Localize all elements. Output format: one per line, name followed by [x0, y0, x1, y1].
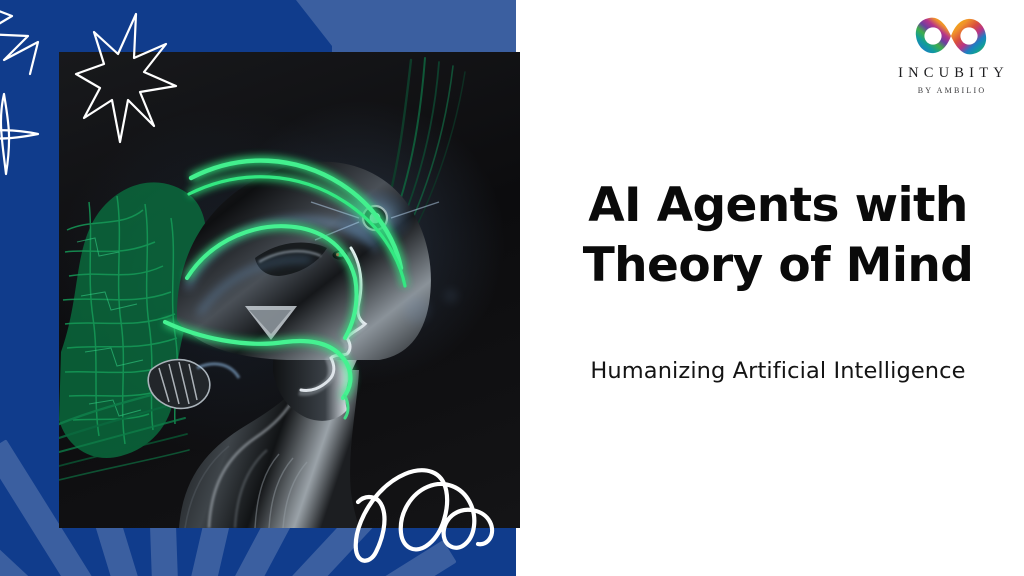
infinity-loop-logo-icon	[913, 14, 989, 58]
star-burst-partial	[0, 0, 38, 74]
slide-subheadline: Humanizing Artificial Intelligence	[540, 358, 1016, 384]
headline-line-1: AI Agents with	[556, 176, 1000, 236]
slide-headline: AI Agents with Theory of Mind	[556, 176, 1000, 295]
logo-tagline: BY AMBILIO	[880, 86, 1022, 95]
star-doodle-decoration	[0, 0, 236, 230]
brand-logo[interactable]: INCUBITY BY AMBILIO	[880, 14, 1022, 106]
headline-line-2: Theory of Mind	[556, 236, 1000, 296]
star-4-point-sparkle-cross	[0, 130, 38, 138]
star-4-point-sparkle	[1, 94, 9, 174]
neural-port-connector	[148, 360, 239, 409]
logo-wordmark: INCUBITY	[880, 65, 1022, 82]
star-8-point-large	[76, 14, 176, 142]
scribble-path	[356, 470, 492, 561]
presentation-slide: INCUBITY BY AMBILIO AI Agents with Theor…	[0, 0, 1024, 576]
loop-scribble-doodle	[352, 448, 522, 568]
